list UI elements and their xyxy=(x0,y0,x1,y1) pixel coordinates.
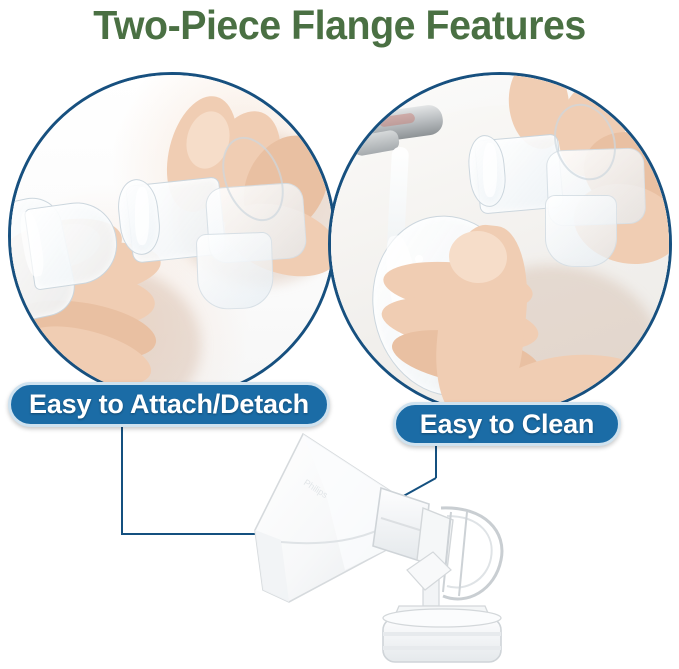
infographic-stage: Two-Piece Flange Features xyxy=(0,0,679,664)
page-title: Two-Piece Flange Features xyxy=(14,2,666,49)
photo-circle-attach-detach xyxy=(8,72,336,400)
product-flange-svg: Philips xyxy=(185,420,515,664)
badge-easy-to-clean[interactable]: Easy to Clean xyxy=(393,402,621,446)
photo-clean-image xyxy=(331,75,669,413)
leader-line-attach-vertical xyxy=(121,425,123,535)
badge-easy-to-attach-detach[interactable]: Easy to Attach/Detach xyxy=(8,382,330,427)
product-illustration: Philips xyxy=(185,420,515,664)
badge-attach-label: Easy to Attach/Detach xyxy=(29,389,309,420)
photo-attach-detach-image xyxy=(11,75,333,397)
badge-clean-label: Easy to Clean xyxy=(420,409,594,440)
photo-circle-clean xyxy=(328,72,672,416)
